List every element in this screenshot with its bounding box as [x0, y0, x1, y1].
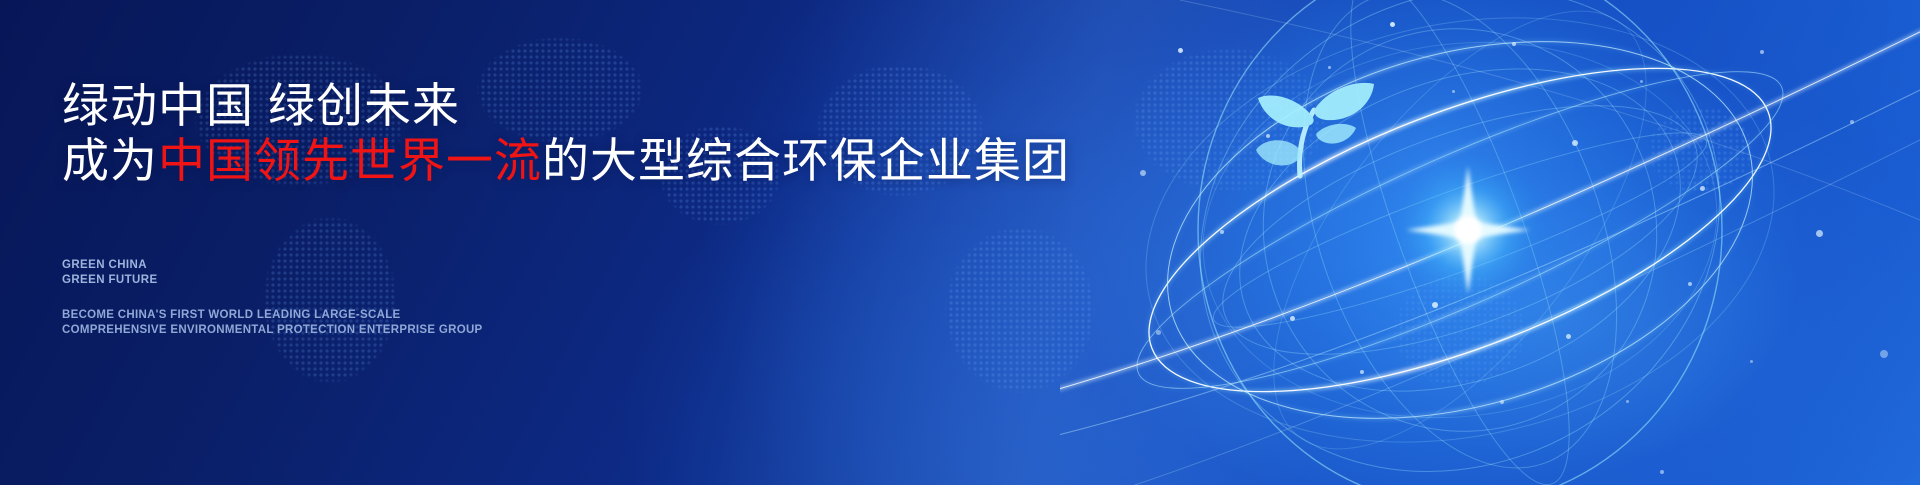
- headline-line-2-highlight: 中国领先世界一流: [158, 134, 542, 187]
- starburst-icon: [1390, 152, 1546, 308]
- hero-banner: 绿动中国 绿创未来 成为中国领先世界一流的大型综合环保企业集团 GREEN CH…: [0, 0, 1920, 485]
- headline-line-1: 绿动中国 绿创未来: [62, 79, 460, 132]
- headline-line-2-suffix: 的大型综合环保企业集团: [542, 134, 1070, 187]
- headline-line-2-prefix: 成为: [62, 134, 158, 187]
- english-tagline-line-2: COMPREHENSIVE ENVIRONMENTAL PROTECTION E…: [62, 323, 483, 338]
- english-slogan-line-1: GREEN CHINA: [62, 258, 158, 273]
- headline-line-2: 成为中国领先世界一流的大型综合环保企业集团: [62, 133, 1122, 188]
- english-slogan: GREEN CHINA GREEN FUTURE: [62, 258, 158, 288]
- english-slogan-line-2: GREEN FUTURE: [62, 273, 158, 288]
- banner-copy: 绿动中国 绿创未来 成为中国领先世界一流的大型综合环保企业集团 GREEN CH…: [62, 0, 1162, 485]
- wireframe-globe-icon: [1060, 0, 1920, 485]
- english-tagline: BECOME CHINA'S FIRST WORLD LEADING LARGE…: [62, 308, 483, 338]
- english-tagline-line-1: BECOME CHINA'S FIRST WORLD LEADING LARGE…: [62, 308, 483, 323]
- page-title: 绿动中国 绿创未来 成为中国领先世界一流的大型综合环保企业集团: [62, 78, 1122, 188]
